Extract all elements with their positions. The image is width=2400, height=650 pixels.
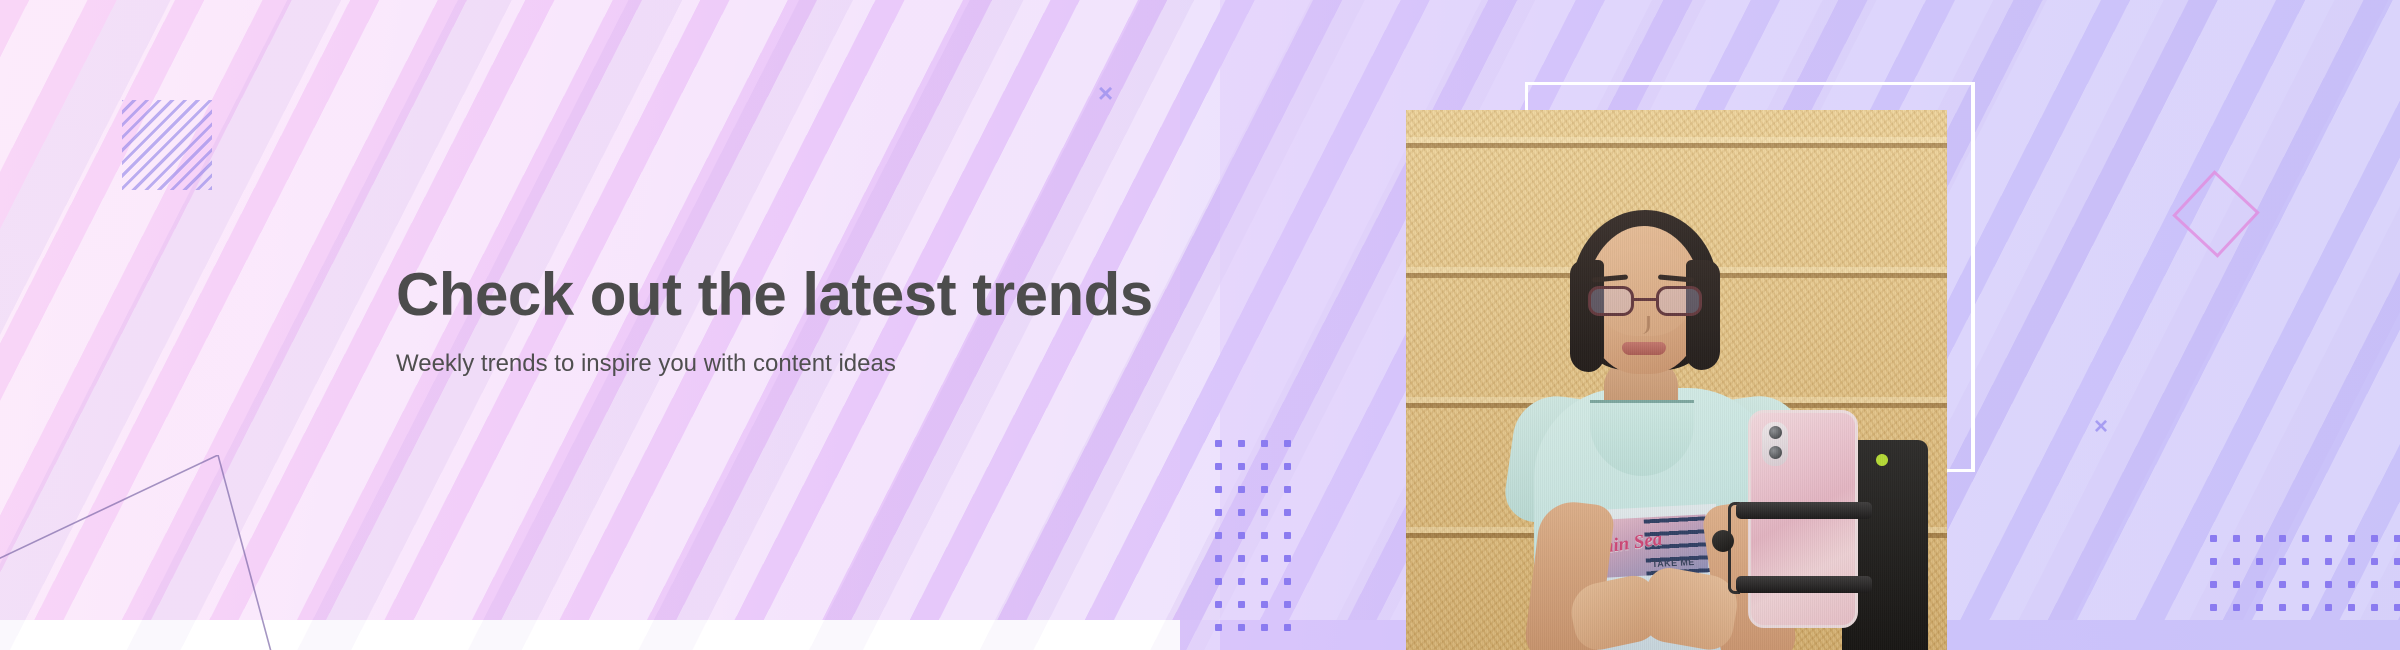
page-subtitle: Weekly trends to inspire you with conten… <box>396 348 1296 379</box>
glasses-icon <box>1588 286 1702 316</box>
page-title: Check out the latest trends <box>396 262 1296 328</box>
phone-camera-module <box>1762 422 1788 466</box>
mouth <box>1622 342 1666 355</box>
glasses-lens-right <box>1656 286 1702 316</box>
glasses-bridge <box>1634 298 1656 301</box>
banner-copy: Check out the latest trends Weekly trend… <box>396 262 1296 379</box>
tripod-clamp-knob <box>1712 530 1734 552</box>
glasses-lens-left <box>1588 286 1634 316</box>
hero-photo: Vitamin Sea TAKE ME TROPIC <box>1406 110 1947 650</box>
hero-banner: × × Check out the latest trends Weekly t… <box>0 0 2400 650</box>
nose <box>1636 316 1650 334</box>
tripod-clamp-top <box>1736 502 1872 519</box>
tripod-indicator-light <box>1876 454 1888 466</box>
tripod-clamp-bottom <box>1736 576 1872 593</box>
